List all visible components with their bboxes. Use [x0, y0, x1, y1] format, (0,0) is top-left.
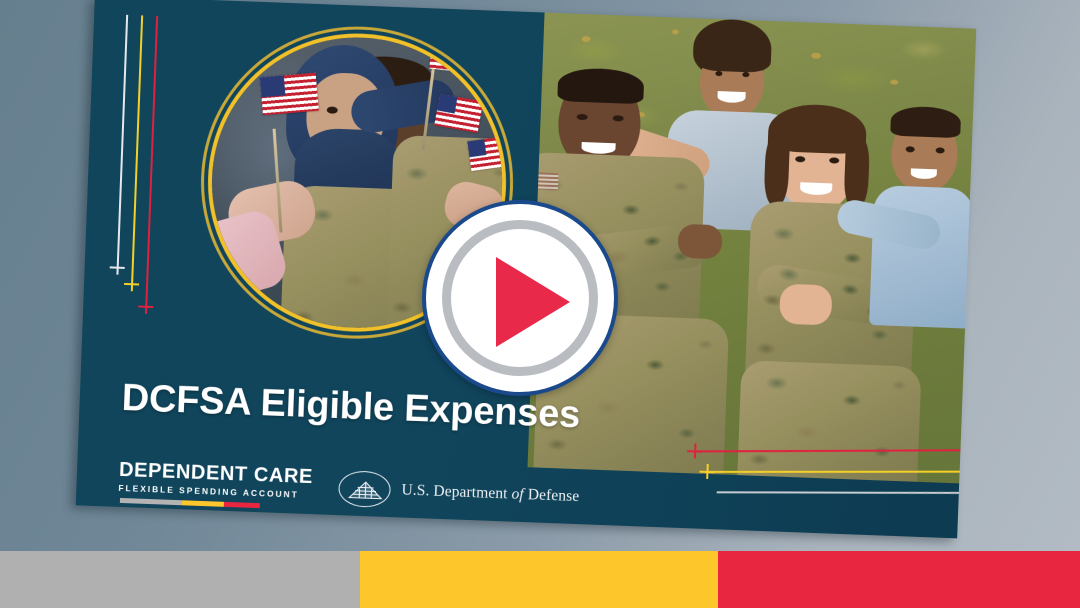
dod-logo: U.S. Department of Defense [338, 470, 580, 515]
dod-pentagon-seal-icon [338, 470, 391, 508]
yellow-plus-marker-h [699, 464, 715, 480]
white-plus-marker [109, 259, 125, 275]
dod-text-part1: U.S. Department [401, 481, 508, 502]
us-flag-icon [260, 73, 319, 116]
red-plus-marker [138, 298, 154, 314]
leaf-fleck [890, 80, 898, 85]
bottom-bar-segment-gray [0, 551, 360, 608]
leaf-fleck [811, 53, 821, 59]
yellow-accent-line-h [705, 471, 963, 473]
dependent-care-logo: DEPENDENT CARE FLEXIBLE SPENDING ACCOUNT [118, 460, 313, 511]
bottom-color-bar [0, 551, 1080, 608]
video-thumbnail-page: DCFSA Eligible Expenses DEPENDENT CARE F… [0, 0, 1080, 608]
bottom-bar-segment-yellow [360, 551, 718, 608]
dod-logo-text: U.S. Department of Defense [401, 481, 579, 506]
dod-text-italic: of [511, 486, 524, 503]
leaf-fleck [581, 36, 590, 42]
leaf-fleck [672, 29, 679, 34]
bottom-bar-segment-red [718, 551, 1080, 608]
yellow-plus-marker [124, 276, 140, 292]
play-button[interactable] [422, 200, 618, 396]
dod-text-part2: Defense [527, 486, 579, 505]
play-triangle-icon [496, 257, 570, 347]
red-plus-marker-h [687, 443, 703, 459]
